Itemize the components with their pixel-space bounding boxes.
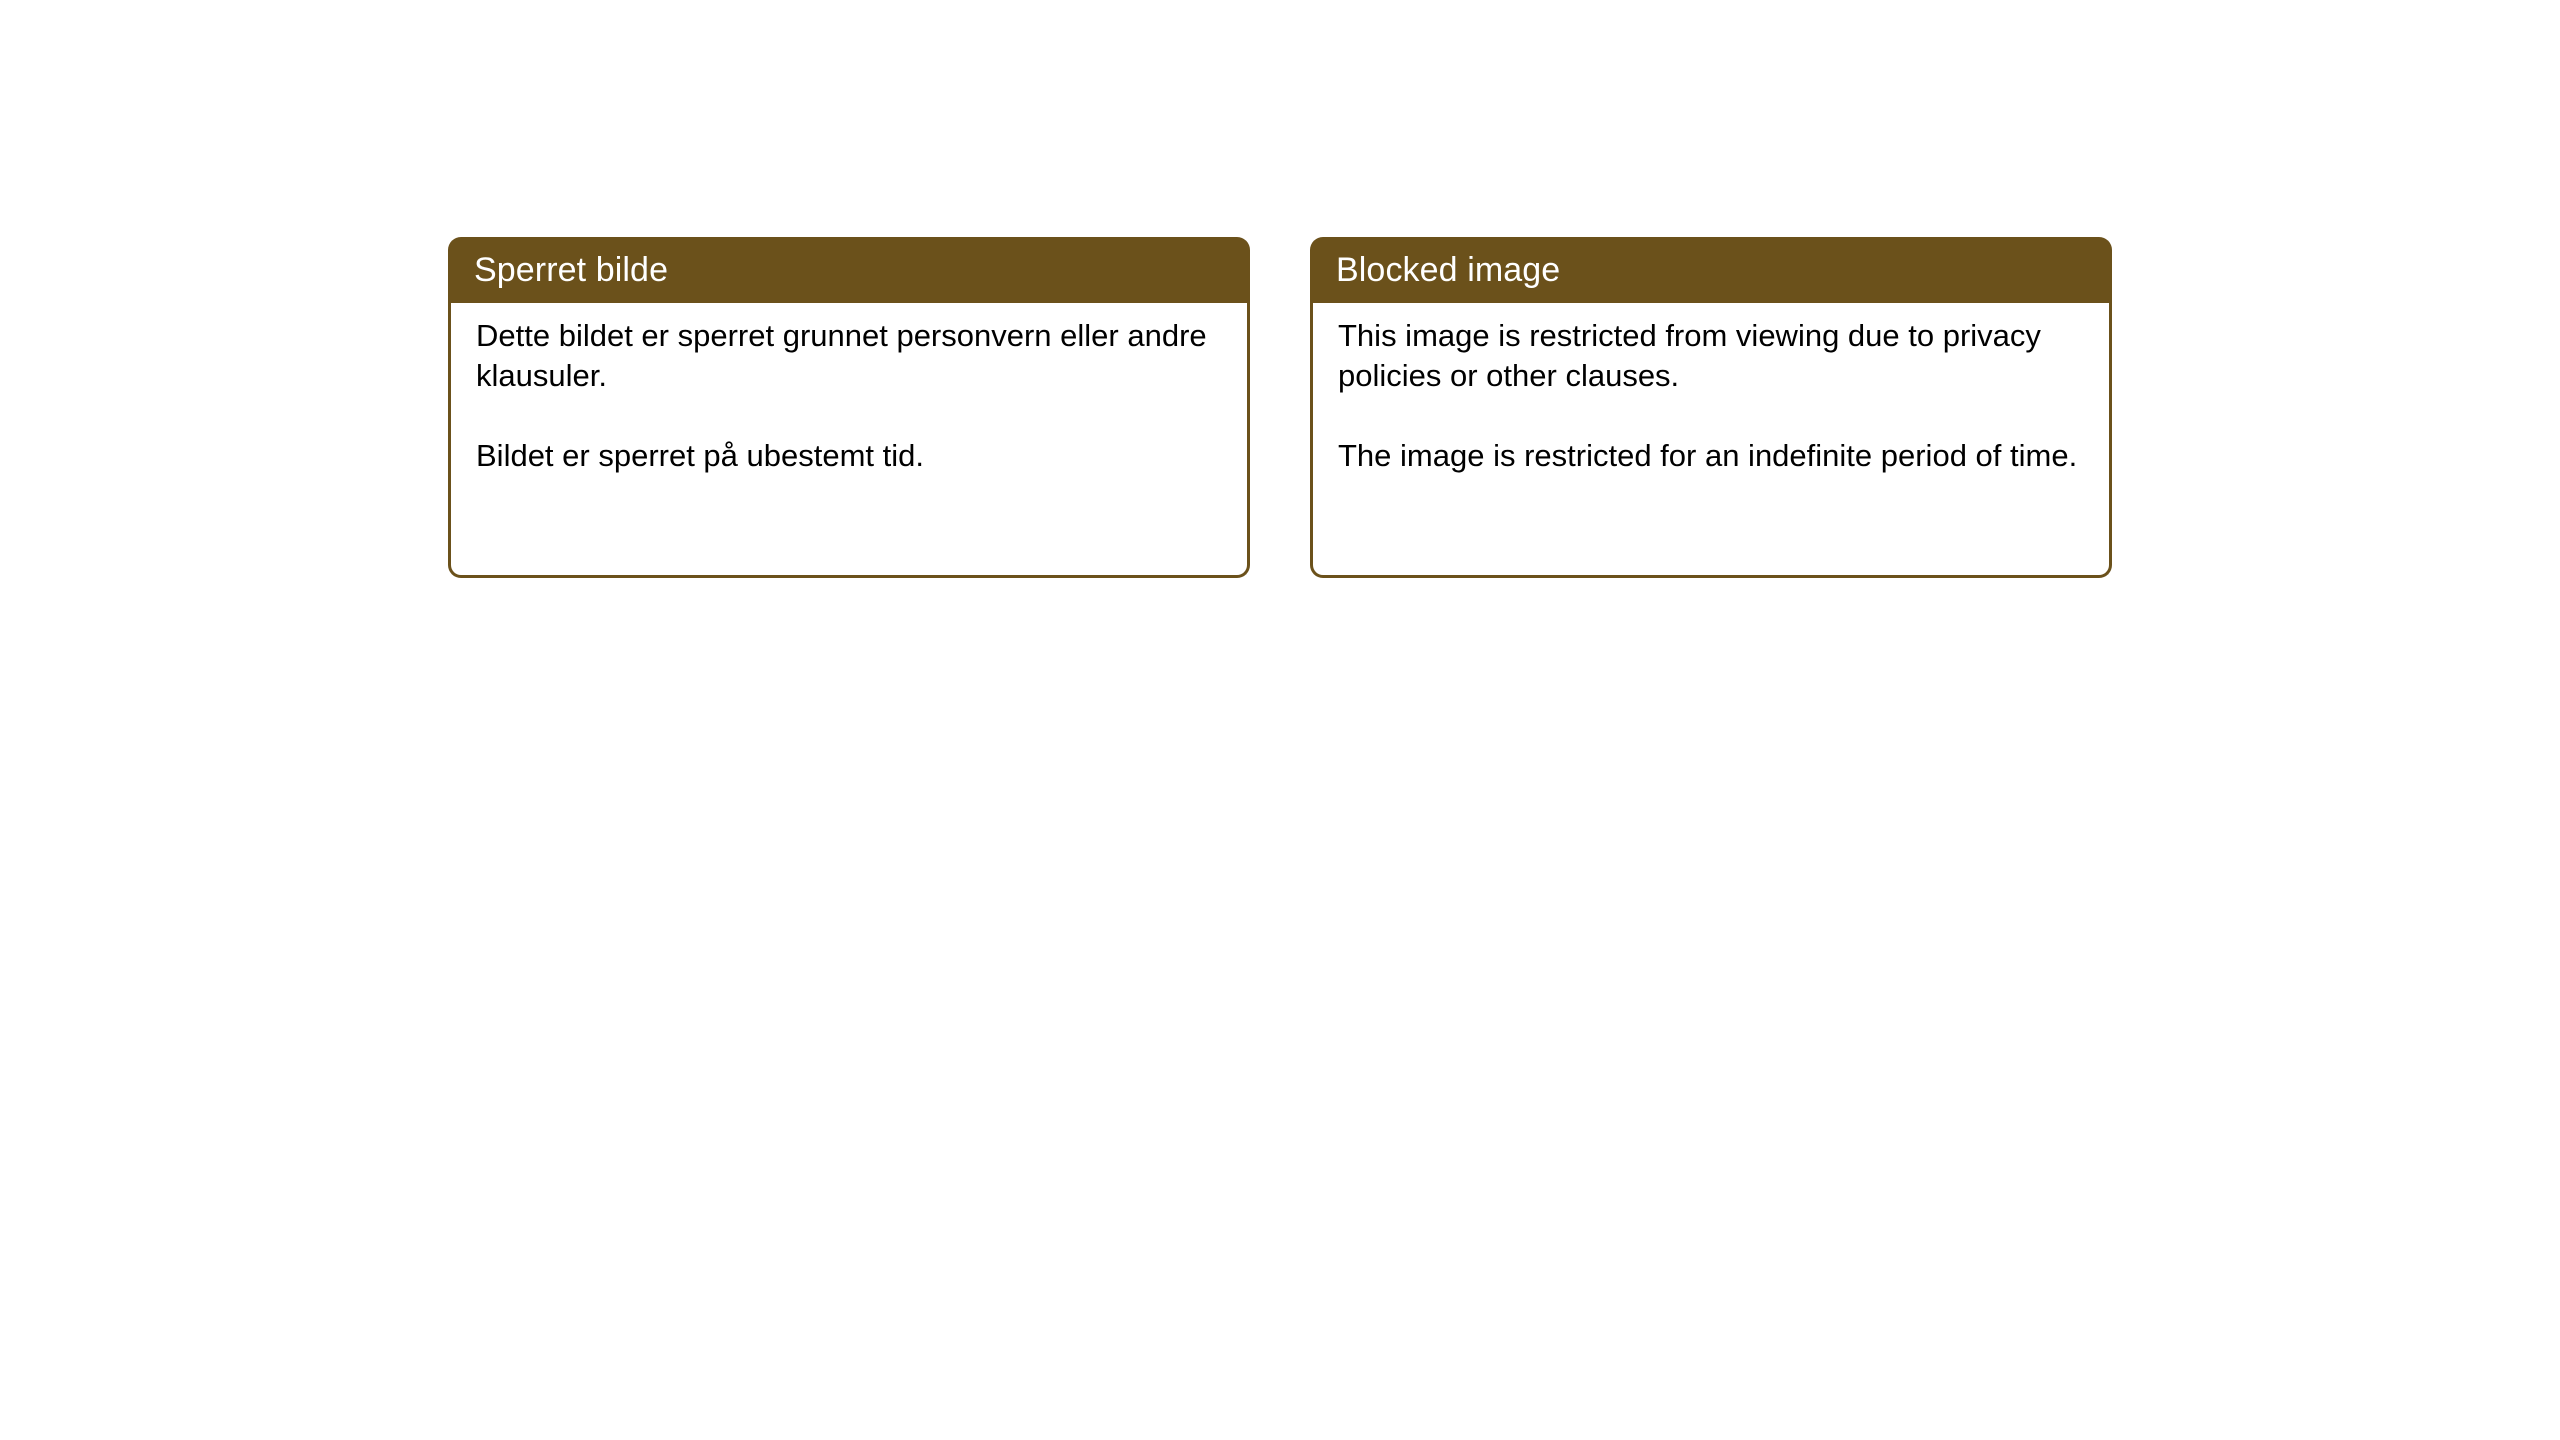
notice-body-inner-en: This image is restricted from viewing du… <box>1338 316 2095 476</box>
notice-body-no: Dette bildet er sperret grunnet personve… <box>448 300 1250 578</box>
notice-paragraph-reason-en: This image is restricted from viewing du… <box>1338 316 2095 396</box>
notice-header-en: Blocked image <box>1310 237 2112 303</box>
notice-title-no: Sperret bilde <box>474 250 668 290</box>
notice-body-en: This image is restricted from viewing du… <box>1310 300 2112 578</box>
blocked-image-notice-no: Sperret bilde Dette bildet er sperret gr… <box>448 237 1250 578</box>
notice-title-en: Blocked image <box>1336 250 1560 290</box>
blocked-image-notice-en: Blocked image This image is restricted f… <box>1310 237 2112 578</box>
notice-paragraph-duration-en: The image is restricted for an indefinit… <box>1338 436 2095 476</box>
notice-paragraph-reason-no: Dette bildet er sperret grunnet personve… <box>476 316 1233 396</box>
notice-paragraph-duration-no: Bildet er sperret på ubestemt tid. <box>476 436 1233 476</box>
notice-header-no: Sperret bilde <box>448 237 1250 303</box>
page-canvas: Sperret bilde Dette bildet er sperret gr… <box>0 0 2560 1440</box>
notice-body-inner-no: Dette bildet er sperret grunnet personve… <box>476 316 1233 476</box>
